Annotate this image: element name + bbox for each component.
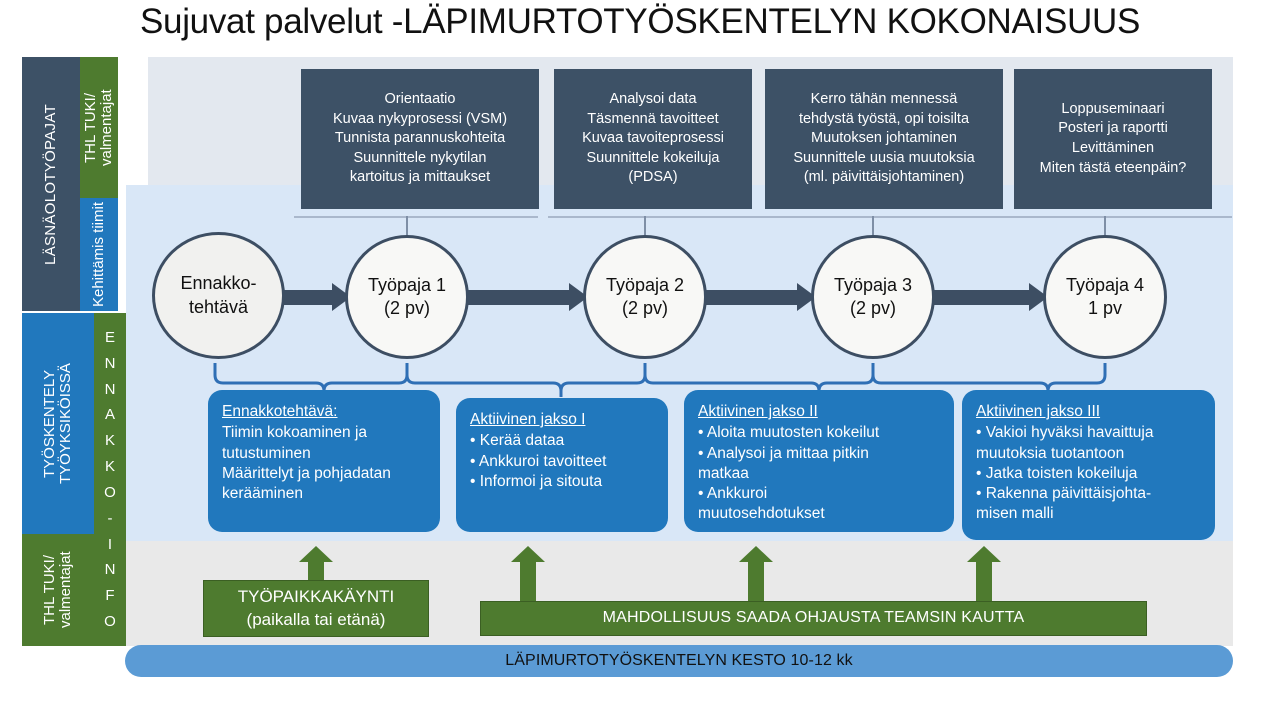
milestone-circle-ennakkotehtava: Ennakko- tehtävä	[152, 232, 285, 359]
support-arrow-up-icon	[511, 546, 545, 606]
phase-box-aktiivinen-jakso-3: Aktiivinen jakso III • Vakioi hyväksi ha…	[962, 390, 1215, 540]
topic-connector-bar	[1008, 216, 1232, 218]
support-arrow-up-icon	[299, 546, 333, 584]
support-arrow-up-icon	[739, 546, 773, 606]
milestone-label: Ennakko- tehtävä	[180, 272, 256, 319]
support-arrow-up-icon	[967, 546, 1001, 606]
topic-connector-bar	[762, 216, 1008, 218]
support-box-workplace-visit: TYÖPAIKKAKÄYNTI (paikalla tai etänä)	[203, 580, 429, 637]
phase-heading: Aktiivinen jakso I	[470, 410, 656, 430]
rail-kehittamistiimit: Kehittämis tiimit	[80, 198, 118, 311]
ennakko-info-letter: K	[105, 459, 115, 474]
support-visit-line-2: (paikalla tai etänä)	[247, 609, 386, 631]
ennakko-info-letter: N	[105, 562, 116, 577]
duration-bar: LÄPIMURTOTYÖSKENTELYN KESTO 10-12 kk	[125, 645, 1233, 677]
ennakko-info-letter: F	[105, 588, 114, 603]
flow-arrow	[932, 283, 1048, 311]
phase-line: • Vakioi hyväksi havaittuja	[976, 423, 1203, 443]
page-title: Sujuvat palvelut -LÄPIMURTOTYÖSKENTELYN …	[0, 2, 1280, 42]
phase-box-ennakkotehtava: Ennakkotehtävä: Tiimin kokoaminen ja tut…	[208, 390, 440, 532]
phase-heading: Ennakkotehtävä:	[222, 402, 428, 422]
ennakko-info-letter: N	[105, 356, 116, 371]
duration-label: LÄPIMURTOTYÖSKENTELYN KESTO 10-12 kk	[505, 652, 852, 670]
milestone-label: Työpaja 4 1 pv	[1066, 274, 1144, 321]
phase-line: muutoksia tuotantoon	[976, 444, 1203, 464]
milestone-circle-tyopaja-4: Työpaja 4 1 pv	[1043, 235, 1167, 359]
workshop-topic-text: Orientaatio Kuvaa nykyprosessi (VSM) Tun…	[333, 90, 507, 188]
phase-line: tutustuminen	[222, 444, 428, 464]
rail-thl-tuki-top: THL TUKI/ valmentajat	[80, 57, 118, 198]
support-box-teams: MAHDOLLISUUS SAADA OHJAUSTA TEAMSIN KAUT…	[480, 601, 1147, 636]
milestone-circle-tyopaja-1: Työpaja 1 (2 pv)	[345, 235, 469, 359]
rail-lasnaolotyopajat: LÄSNÄOLOTYÖPAJAT	[22, 57, 80, 311]
phase-line: muutosehdotukset	[698, 504, 942, 524]
ennakko-info-letter: O	[104, 485, 116, 500]
phase-line: • Kerää dataa	[470, 431, 656, 451]
phase-line: matkaa	[698, 464, 942, 484]
phase-line: Määrittelyt ja pohjadatan	[222, 464, 428, 484]
rail-thl-tuki-bottom: THL TUKI/ valmentajat	[22, 534, 94, 646]
phase-line: • Rakenna päivittäisjohta-	[976, 484, 1203, 504]
ennakko-info-letter: N	[105, 382, 116, 397]
flow-arrow	[704, 283, 816, 311]
topic-connector-bar	[548, 216, 762, 218]
phase-line: Tiimin kokoaminen ja	[222, 423, 428, 443]
milestone-label: Työpaja 3 (2 pv)	[834, 274, 912, 321]
ennakko-info-letter: A	[105, 407, 115, 422]
milestone-circle-tyopaja-2: Työpaja 2 (2 pv)	[583, 235, 707, 359]
workshop-topic-box-2: Analysoi data Täsmennä tavoitteet Kuvaa …	[554, 69, 752, 209]
slide-canvas: Sujuvat palvelut -LÄPIMURTOTYÖSKENTELYN …	[0, 0, 1280, 720]
phase-heading: Aktiivinen jakso II	[698, 402, 942, 422]
phase-line: • Aloita muutosten kokeilut	[698, 423, 942, 443]
ennakko-info-letter: I	[108, 537, 112, 552]
workshop-topic-text: Loppuseminaari Posteri ja raportti Levit…	[1040, 100, 1187, 178]
ennakko-info-letter: K	[105, 433, 115, 448]
workshop-topic-box-3: Kerro tähän mennessä tehdystä työstä, op…	[765, 69, 1003, 209]
phase-box-aktiivinen-jakso-2: Aktiivinen jakso II • Aloita muutosten k…	[684, 390, 954, 532]
phase-box-aktiivinen-jakso-1: Aktiivinen jakso I • Kerää dataa • Ankku…	[456, 398, 668, 532]
topic-connector-bar	[294, 216, 538, 218]
milestone-label: Työpaja 2 (2 pv)	[606, 274, 684, 321]
flow-arrow	[281, 283, 351, 311]
support-teams-label: MAHDOLLISUUS SAADA OHJAUSTA TEAMSIN KAUT…	[603, 608, 1025, 629]
milestone-circle-tyopaja-3: Työpaja 3 (2 pv)	[811, 235, 935, 359]
rail-tyoskentely-tyoyksikoissa: TYÖSKENTELY TYÖYKSIKÖISSÄ	[22, 313, 94, 534]
phase-line: • Analysoi ja mittaa pitkin	[698, 444, 942, 464]
workshop-topic-text: Analysoi data Täsmennä tavoitteet Kuvaa …	[582, 90, 724, 188]
phase-line: kerääminen	[222, 484, 428, 504]
ennakko-info-letter: E	[105, 330, 115, 345]
phase-line: • Ankkuroi	[698, 484, 942, 504]
phase-line: • Informoi ja sitouta	[470, 472, 656, 492]
milestone-label: Työpaja 1 (2 pv)	[368, 274, 446, 321]
flow-arrow	[466, 283, 588, 311]
ennakko-info-letter: -	[108, 511, 113, 526]
workshop-topic-box-1: Orientaatio Kuvaa nykyprosessi (VSM) Tun…	[301, 69, 539, 209]
workshop-topic-text: Kerro tähän mennessä tehdystä työstä, op…	[793, 90, 974, 188]
workshop-topic-box-4: Loppuseminaari Posteri ja raportti Levit…	[1014, 69, 1212, 209]
phase-line: misen malli	[976, 504, 1203, 524]
support-visit-line-1: TYÖPAIKKAKÄYNTI	[238, 586, 395, 608]
phase-line: • Ankkuroi tavoitteet	[470, 452, 656, 472]
phase-heading: Aktiivinen jakso III	[976, 402, 1203, 422]
ennakko-info-letter: O	[104, 614, 116, 629]
footer-logos: thl ★★★★★★★★★★★★ Euroopan unionin rahoit…	[0, 678, 1280, 720]
rail-ennakko-info: ENNAKKO-INFO	[94, 313, 126, 646]
phase-line: • Jatka toisten kokeiluja	[976, 464, 1203, 484]
